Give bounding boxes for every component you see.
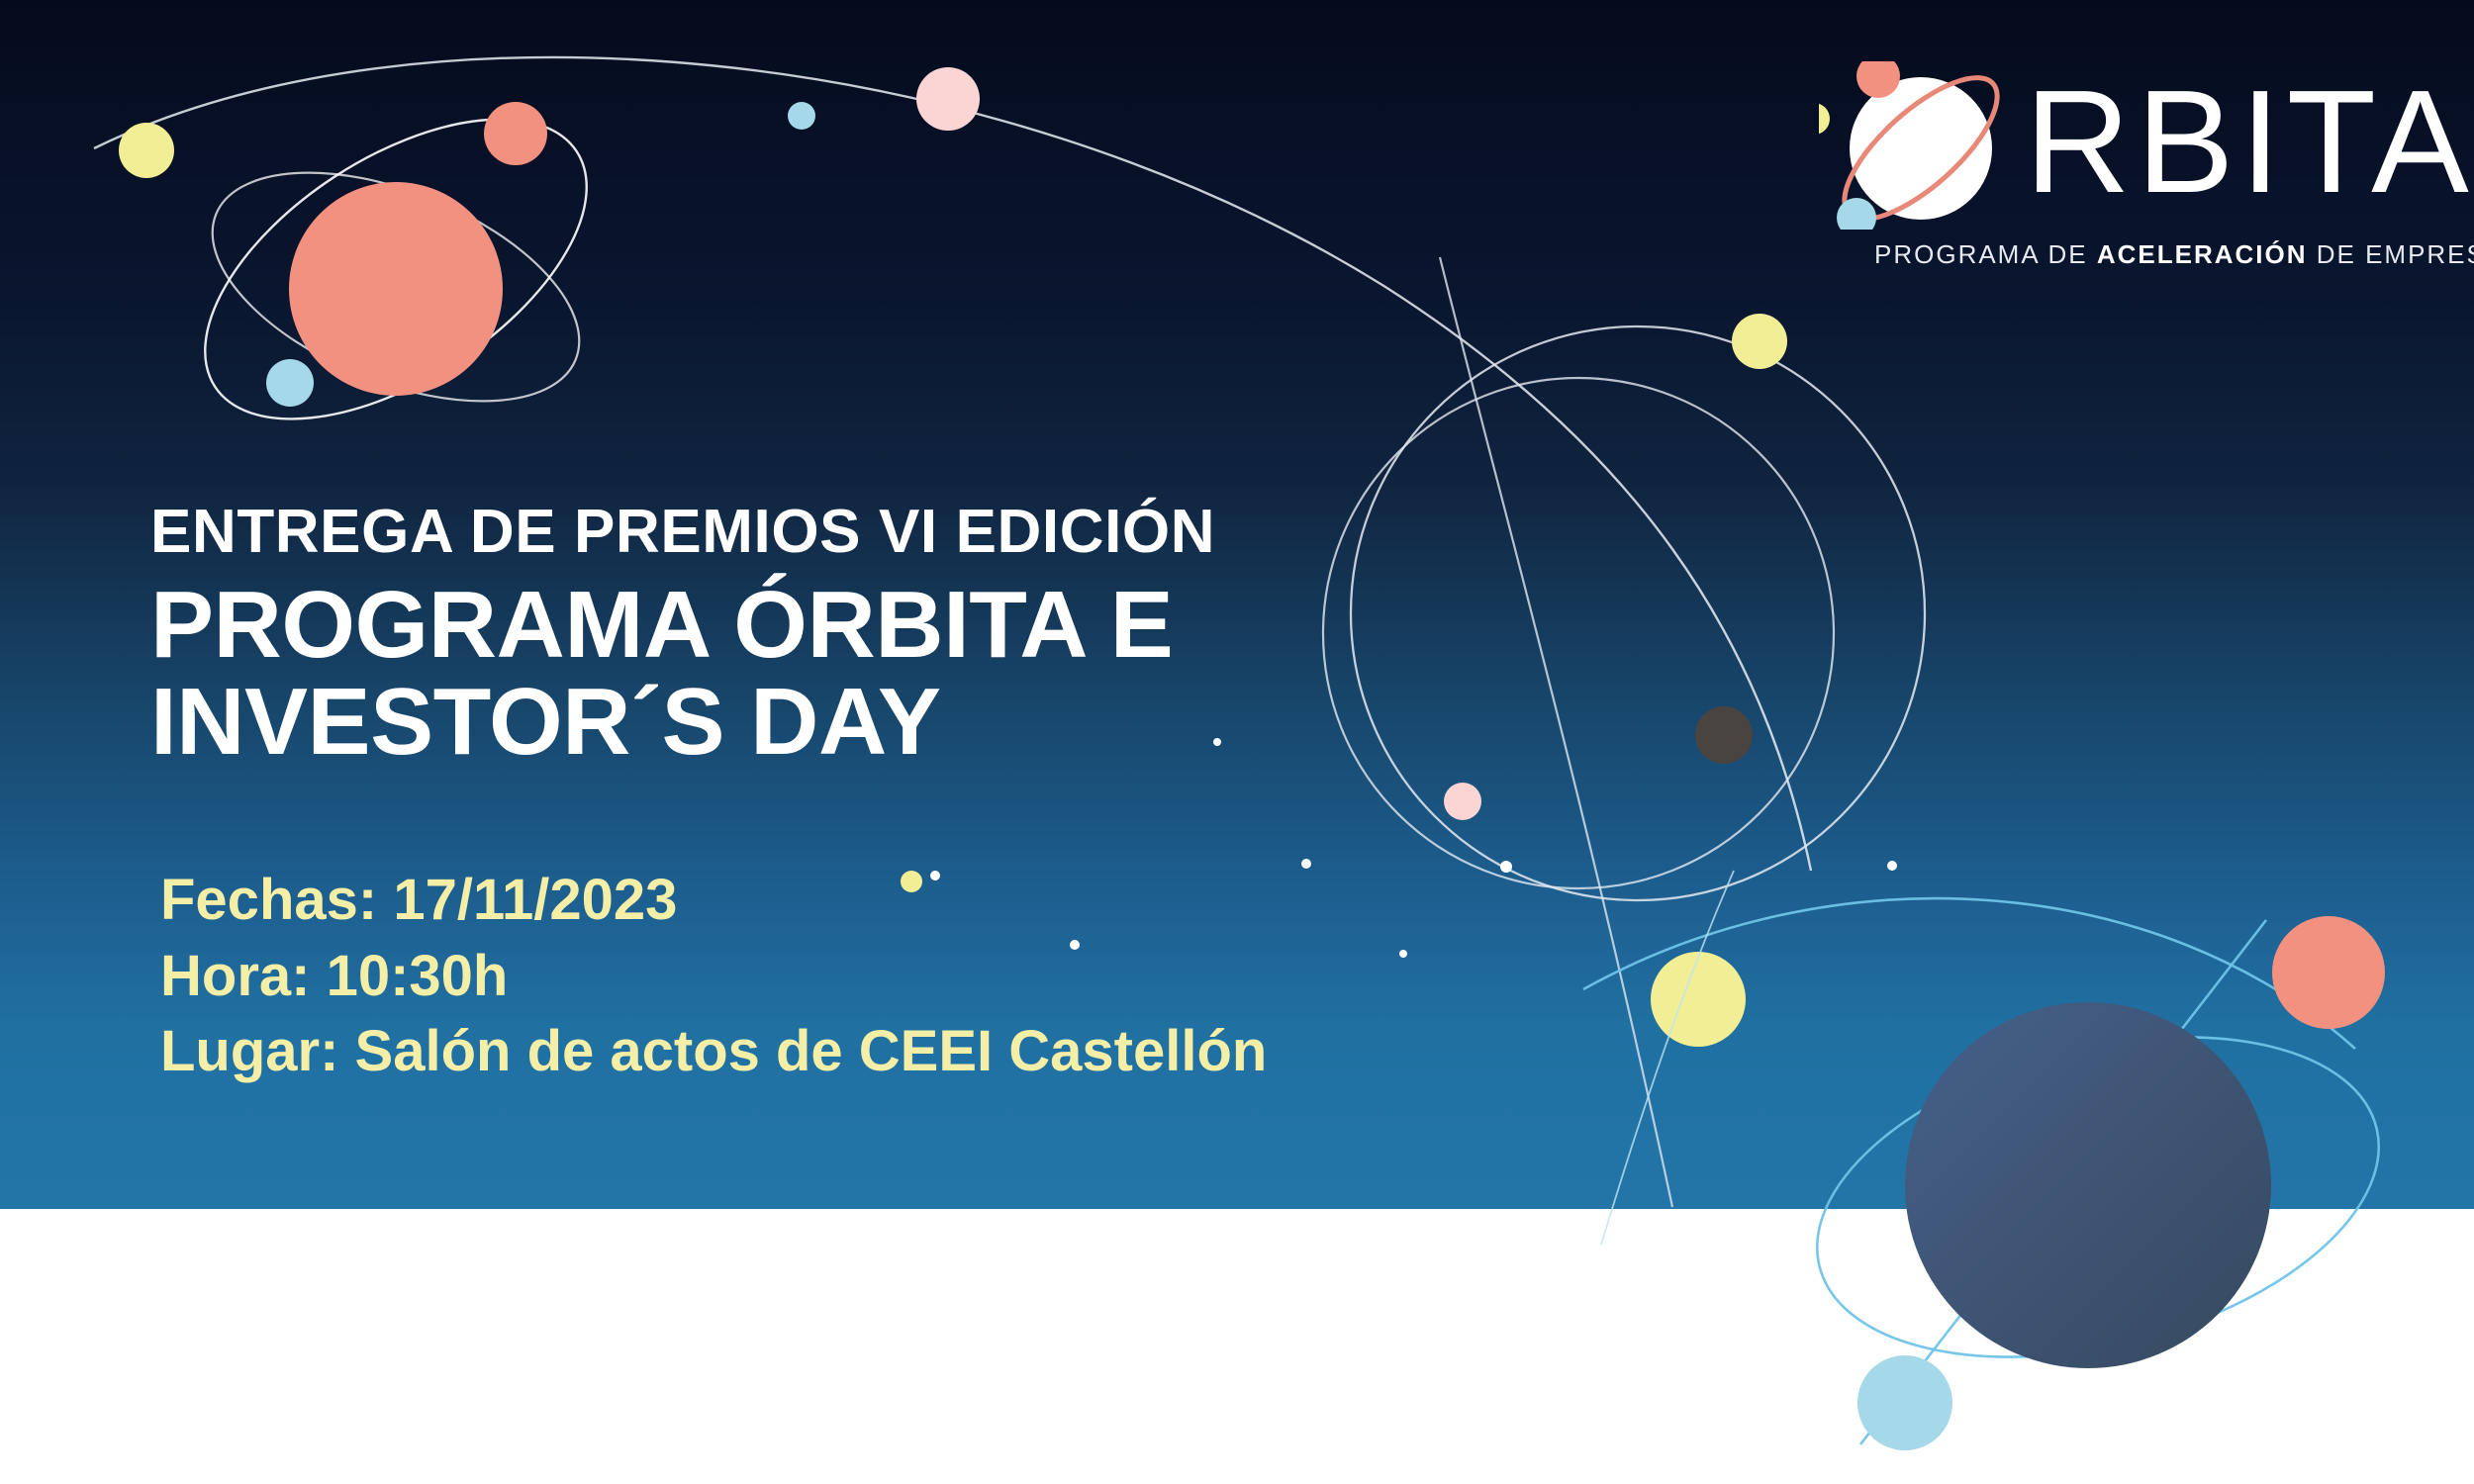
planet-salmon-bottom: [2272, 916, 2385, 1029]
planet-blue-small: [266, 359, 314, 407]
headline-kicker: ENTREGA DE PREMIOS VI EDICIÓN: [150, 501, 1615, 563]
dot-yellow-orbit: [1732, 314, 1787, 369]
dot-dark-orbit: [1695, 706, 1753, 764]
detail-fechas: Fechas: 17/11/2023: [160, 863, 1267, 939]
dot-blue-top: [788, 102, 815, 130]
orbita-tagline: PROGRAMA DE ACELERACIÓN DE EMPRESAS: [1874, 239, 2414, 270]
event-details-block: Fechas: 17/11/2023 Hora: 10:30h Lugar: S…: [160, 863, 1267, 1090]
footer-logos: Centro Europeo de Empresas e Innovación …: [0, 1209, 2474, 1484]
headline-title-line2: INVESTOR´S DAY: [150, 674, 1615, 771]
detail-hora: Hora: 10:30h: [160, 939, 1267, 1015]
tagline-prefix: PROGRAMA DE: [1874, 239, 2097, 269]
logo-dot-yellow: [1819, 103, 1830, 135]
planet-yellow-bottom: [1651, 952, 1746, 1047]
dot-pink-top: [916, 67, 980, 131]
orbita-logo: RBITA PROGRAMA DE ACELERACIÓN DE EMPRESA…: [1819, 61, 2413, 289]
planet-salmon-large: [289, 182, 503, 396]
dot-pink-orbit: [1444, 783, 1481, 820]
top-left-orbit-system: [119, 58, 637, 479]
headline-block: ENTREGA DE PREMIOS VI EDICIÓN PROGRAMA Ó…: [150, 501, 1615, 771]
event-poster: ENTREGA DE PREMIOS VI EDICIÓN PROGRAMA Ó…: [0, 0, 2474, 1484]
orbita-wordmark: RBITA: [2025, 69, 2474, 216]
planet-yellow-small: [119, 123, 174, 178]
detail-lugar: Lugar: Salón de actos de CEEI Castellón: [160, 1014, 1267, 1090]
tagline-suffix: DE EMPRESAS: [2308, 239, 2474, 269]
planet-salmon-small: [484, 102, 547, 165]
tagline-bold: ACELERACIÓN: [2097, 239, 2308, 269]
headline-title: PROGRAMA ÓRBITA E INVESTOR´S DAY: [150, 577, 1615, 771]
headline-title-line1: PROGRAMA ÓRBITA E: [150, 572, 1173, 678]
